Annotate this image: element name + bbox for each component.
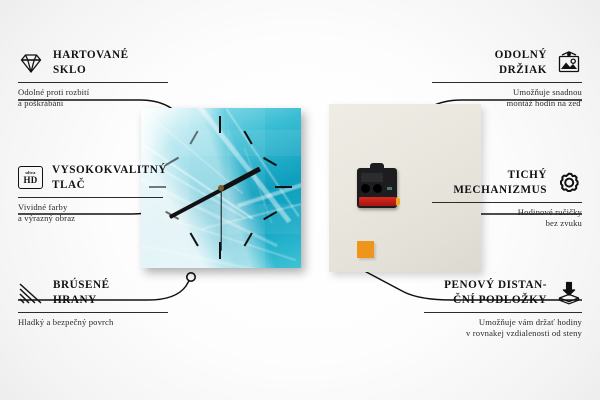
desc-line-2: montáž hodin na zeď bbox=[432, 98, 582, 110]
callout-hardened-glass: HARTOVANÉ SKLO Odolné proti rozbití a po… bbox=[18, 48, 168, 110]
callout-header: ODOLNÝ DRŽIAK bbox=[432, 48, 582, 78]
divider bbox=[18, 197, 163, 198]
beveled-edge-icon bbox=[18, 281, 44, 305]
battery bbox=[359, 197, 397, 206]
ultra-hd-icon: ultra HD bbox=[18, 166, 43, 189]
callout-description: Umožňuje snadnou montáž hodin na zeď bbox=[432, 87, 582, 111]
divider bbox=[18, 312, 168, 313]
callout-title: PENOVÝ DISTAN- ČNÍ PODLOŽKY bbox=[444, 278, 547, 308]
callout-title: ODOLNÝ DRŽIAK bbox=[495, 48, 547, 78]
title-line-2: DRŽIAK bbox=[495, 63, 547, 78]
mechanism-port bbox=[361, 173, 383, 182]
desc-line-1: Vividné farby bbox=[18, 202, 163, 214]
callout-description: Umožňuje vám držať hodiny v rovnakej vzd… bbox=[424, 317, 582, 341]
callout-foam-spacer: PENOVÝ DISTAN- ČNÍ PODLOŽKY Umožňuje vám… bbox=[424, 278, 582, 340]
callout-header: BRÚSENÉ HRANY bbox=[18, 278, 168, 308]
mechanism-hanger-tab bbox=[370, 163, 384, 170]
desc-line-1: Hladký a bezpečný povrch bbox=[18, 317, 168, 329]
callout-title: TICHÝ MECHANIZMUS bbox=[453, 168, 547, 198]
divider bbox=[424, 312, 582, 313]
title-line-2: HRANY bbox=[53, 293, 110, 308]
callout-description: Vividné farby a výrazný obraz bbox=[18, 202, 163, 226]
clock-mechanism bbox=[357, 168, 397, 208]
foam-spacer-pad bbox=[357, 241, 374, 258]
desc-line-1: Hodinové ručičky bbox=[432, 207, 582, 219]
callout-header: HARTOVANÉ SKLO bbox=[18, 48, 168, 78]
title-line-1: HARTOVANÉ bbox=[53, 48, 129, 63]
mechanism-knob-left bbox=[361, 184, 370, 193]
callout-title: HARTOVANÉ SKLO bbox=[53, 48, 129, 78]
leader-dot-beveled-edges bbox=[187, 273, 195, 281]
title-line-1: VYSOKOKVALITNÝ bbox=[52, 163, 167, 178]
desc-line-1: Umožňuje vám držať hodiny bbox=[424, 317, 582, 329]
title-line-2: SKLO bbox=[53, 63, 129, 78]
gear-icon bbox=[556, 171, 582, 195]
desc-line-2: a poškrábání bbox=[18, 98, 168, 110]
second-hand bbox=[220, 189, 221, 251]
callout-title: VYSOKOKVALITNÝ TLAČ bbox=[52, 163, 167, 193]
callout-hd-print: ultra HD VYSOKOKVALITNÝ TLAČ Vividné far… bbox=[18, 163, 163, 225]
hour-tick-3 bbox=[275, 186, 292, 188]
foam-spacer-icon bbox=[556, 281, 582, 305]
desc-line-2: a výrazný obraz bbox=[18, 213, 163, 225]
title-line-1: PENOVÝ DISTAN- bbox=[444, 278, 547, 293]
title-line-1: TICHÝ bbox=[453, 168, 547, 183]
title-line-2: TLAČ bbox=[52, 178, 167, 193]
ultra-hd-icon-main-text: HD bbox=[23, 176, 37, 185]
hour-tick-7 bbox=[189, 232, 198, 246]
divider bbox=[432, 82, 582, 83]
desc-line-2: bez zvuku bbox=[432, 218, 582, 230]
callout-mechanism: TICHÝ MECHANIZMUS Hodinové ručičky bez z… bbox=[432, 168, 582, 230]
title-line-2: ČNÍ PODLOŽKY bbox=[444, 293, 547, 308]
callout-holder: ODOLNÝ DRŽIAK Umožňuje snadnou montáž ho… bbox=[432, 48, 582, 110]
desc-line-1: Odolné proti rozbití bbox=[18, 87, 168, 99]
picture-frame-hanger-icon bbox=[556, 51, 582, 75]
callout-description: Odolné proti rozbití a poškrábání bbox=[18, 87, 168, 111]
divider bbox=[432, 202, 582, 203]
title-line-2: MECHANIZMUS bbox=[453, 183, 547, 198]
callout-description: Hodinové ručičky bez zvuku bbox=[432, 207, 582, 231]
callout-header: PENOVÝ DISTAN- ČNÍ PODLOŽKY bbox=[424, 278, 582, 308]
desc-line-2: v rovnakej vzdialenosti od steny bbox=[424, 328, 582, 340]
title-line-1: ODOLNÝ bbox=[495, 48, 547, 63]
hour-tick-12 bbox=[219, 116, 221, 133]
desc-line-1: Umožňuje snadnou bbox=[432, 87, 582, 99]
clock-hand-hub bbox=[218, 185, 224, 191]
infographic-canvas: HARTOVANÉ SKLO Odolné proti rozbití a po… bbox=[0, 0, 600, 400]
callout-title: BRÚSENÉ HRANY bbox=[53, 278, 110, 308]
mechanism-knob-right bbox=[373, 184, 382, 193]
mechanism-led bbox=[387, 187, 392, 190]
callout-header: ultra HD VYSOKOKVALITNÝ TLAČ bbox=[18, 163, 163, 193]
callout-beveled-edges: BRÚSENÉ HRANY Hladký a bezpečný povrch bbox=[18, 278, 168, 328]
diamond-icon bbox=[18, 51, 44, 75]
callout-header: TICHÝ MECHANIZMUS bbox=[432, 168, 582, 198]
divider bbox=[18, 82, 168, 83]
title-line-1: BRÚSENÉ bbox=[53, 278, 110, 293]
callout-description: Hladký a bezpečný povrch bbox=[18, 317, 168, 329]
